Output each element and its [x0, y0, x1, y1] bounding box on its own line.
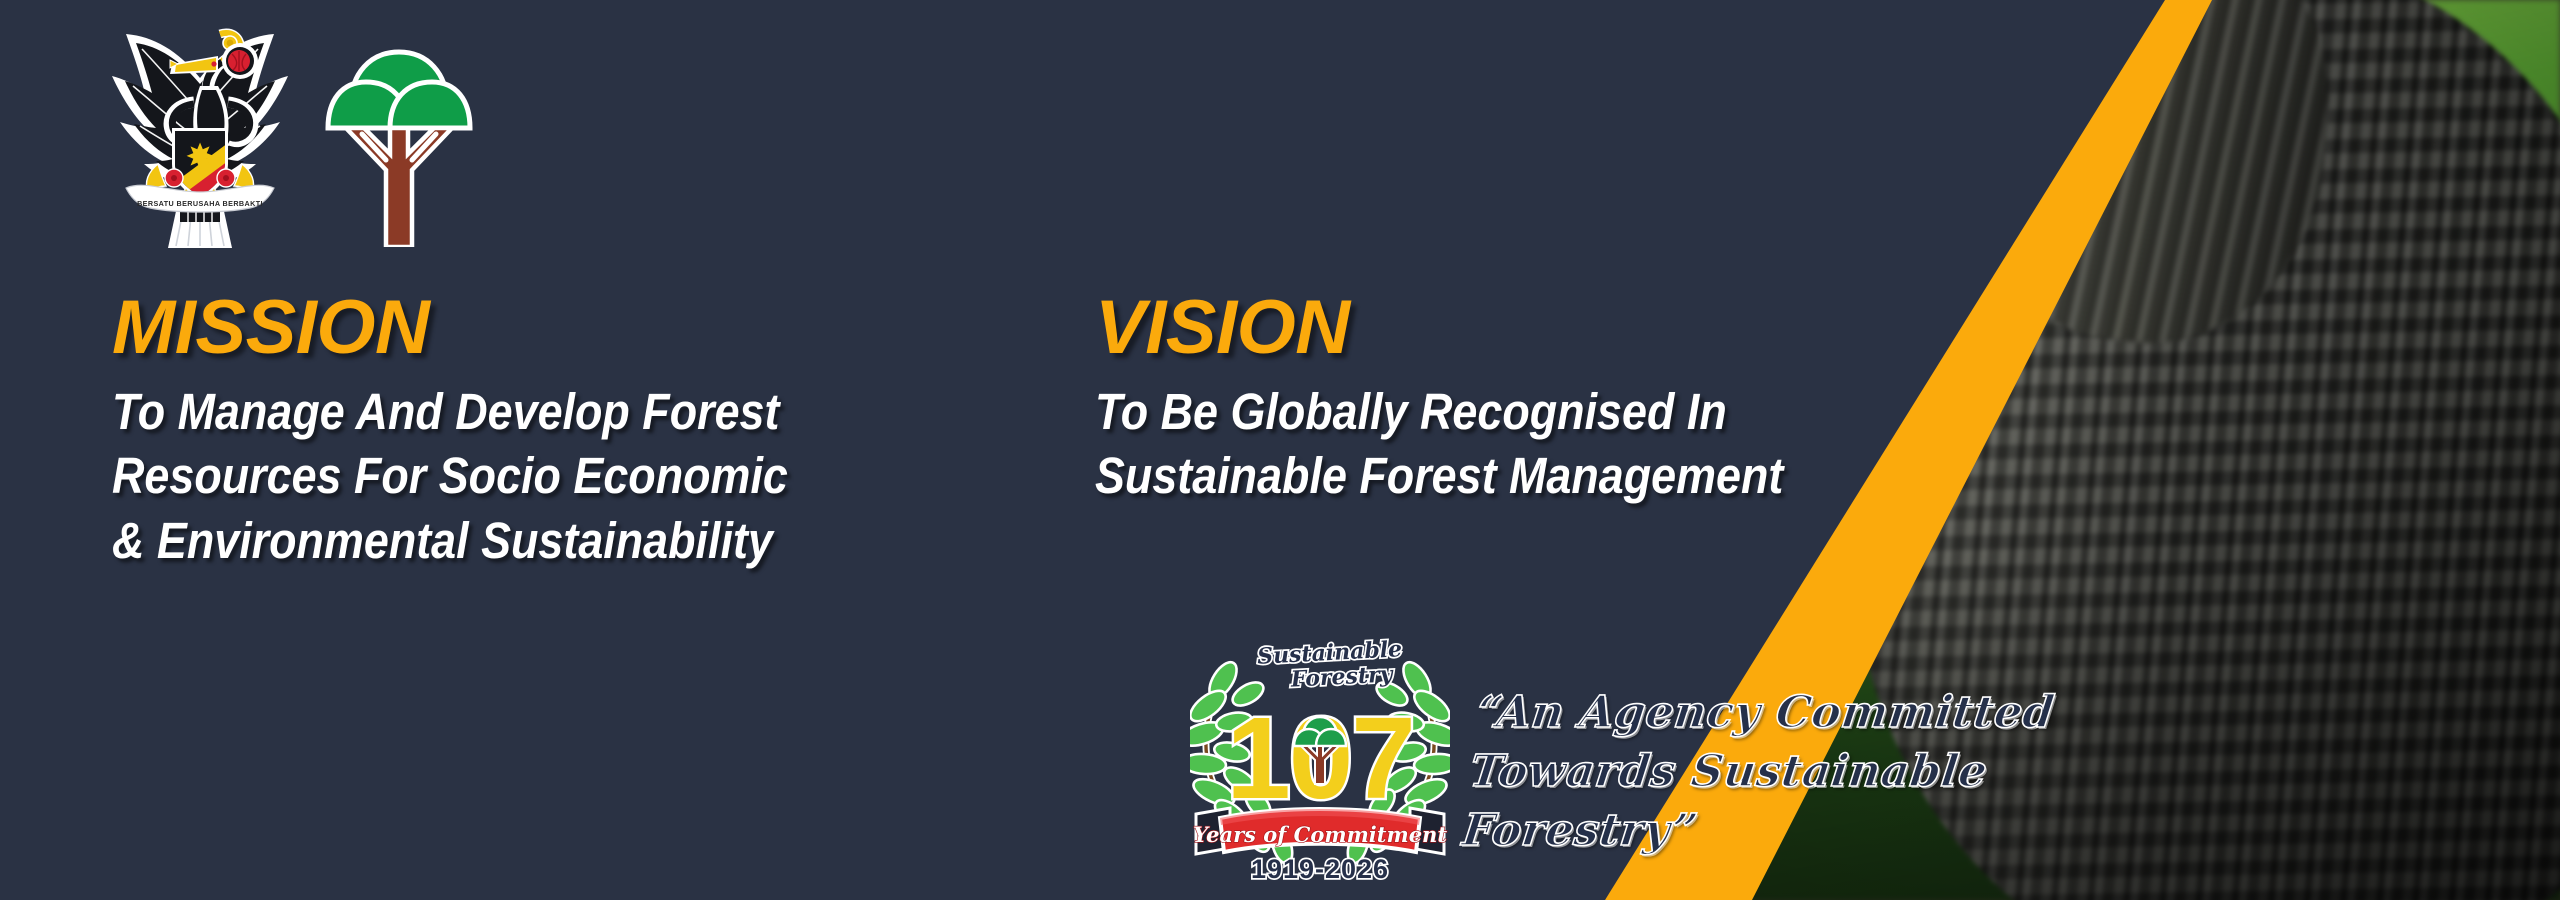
crest-motto: BERSATU BERUSAHA BERBAKTI: [137, 199, 263, 208]
emblem-years: 1919-2026: [1251, 854, 1389, 884]
mission-heading: MISSION: [112, 290, 1012, 366]
logo-row: BERSATU BERUSAHA BERBAKTI: [100, 16, 474, 248]
anniversary-107-emblem-icon: Sustainable Forestry 107 Years of Commit…: [1190, 622, 1450, 884]
agency-tagline: “An Agency Committed Towards Sustainable…: [1459, 684, 2081, 861]
emblem-top-line-2: Forestry: [1289, 661, 1395, 692]
vision-body: To Be Globally Recognised In Sustainable…: [1095, 380, 1940, 509]
emblem-ribbon-text: Years of Commitment: [1193, 822, 1447, 847]
mission-column: MISSION To Manage And Develop Forest Res…: [112, 290, 1012, 573]
forest-department-tree-logo-icon: [324, 42, 474, 247]
sarawak-coat-of-arms-icon: BERSATU BERUSAHA BERBAKTI: [100, 16, 300, 248]
vision-column: VISION To Be Globally Recognised In Sust…: [1095, 290, 2055, 509]
vision-heading: VISION: [1095, 290, 2055, 366]
mission-body: To Manage And Develop Forest Resources F…: [112, 380, 904, 573]
emblem-ribbon: Years of Commitment: [1193, 808, 1447, 854]
mission-vision-banner: BERSATU BERUSAHA BERBAKTI MISSION To Man…: [0, 0, 2560, 900]
anniversary-107-emblem: Sustainable Forestry 107 Years of Commit…: [1190, 622, 1450, 884]
mission-vision-text: MISSION To Manage And Develop Forest Res…: [0, 290, 2100, 670]
